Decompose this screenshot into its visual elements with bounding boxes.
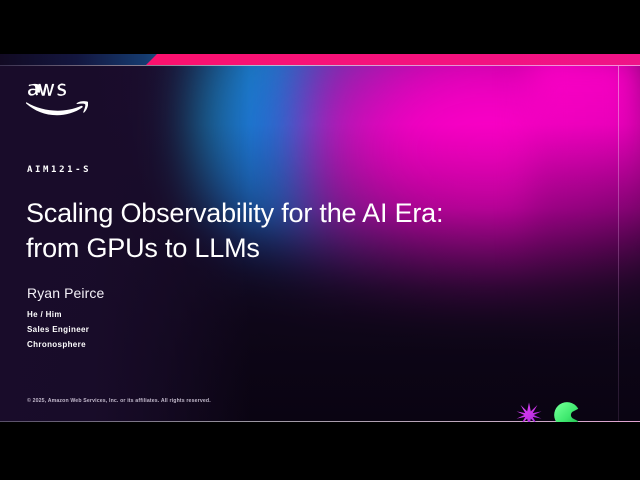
slide-title: Scaling Observability for the AI Era: fr… bbox=[26, 196, 526, 265]
speaker-name: Ryan Peirce bbox=[27, 285, 104, 301]
speaker-pronouns: He / Him bbox=[27, 310, 62, 319]
speaker-role: Sales Engineer bbox=[27, 325, 89, 334]
footer-hairline bbox=[0, 421, 640, 422]
header-hairline bbox=[0, 65, 640, 66]
header-band-dark-blue bbox=[0, 54, 170, 65]
aws-logo bbox=[26, 80, 88, 116]
video-player-stage: AIM121-S Scaling Observability for the A… bbox=[0, 0, 640, 480]
copyright-notice: © 2025, Amazon Web Services, Inc. or its… bbox=[27, 398, 211, 404]
right-vertical-rule bbox=[618, 66, 619, 422]
session-code: AIM121-S bbox=[27, 165, 91, 175]
sparkle-star-icon bbox=[516, 402, 542, 422]
slide-title-line-2: from GPUs to LLMs bbox=[26, 231, 526, 266]
speaker-company: Chronosphere bbox=[27, 340, 86, 349]
chronosphere-logo-icon bbox=[553, 401, 581, 422]
slide-title-line-1: Scaling Observability for the AI Era: bbox=[26, 196, 526, 231]
presentation-slide: AIM121-S Scaling Observability for the A… bbox=[0, 54, 640, 422]
